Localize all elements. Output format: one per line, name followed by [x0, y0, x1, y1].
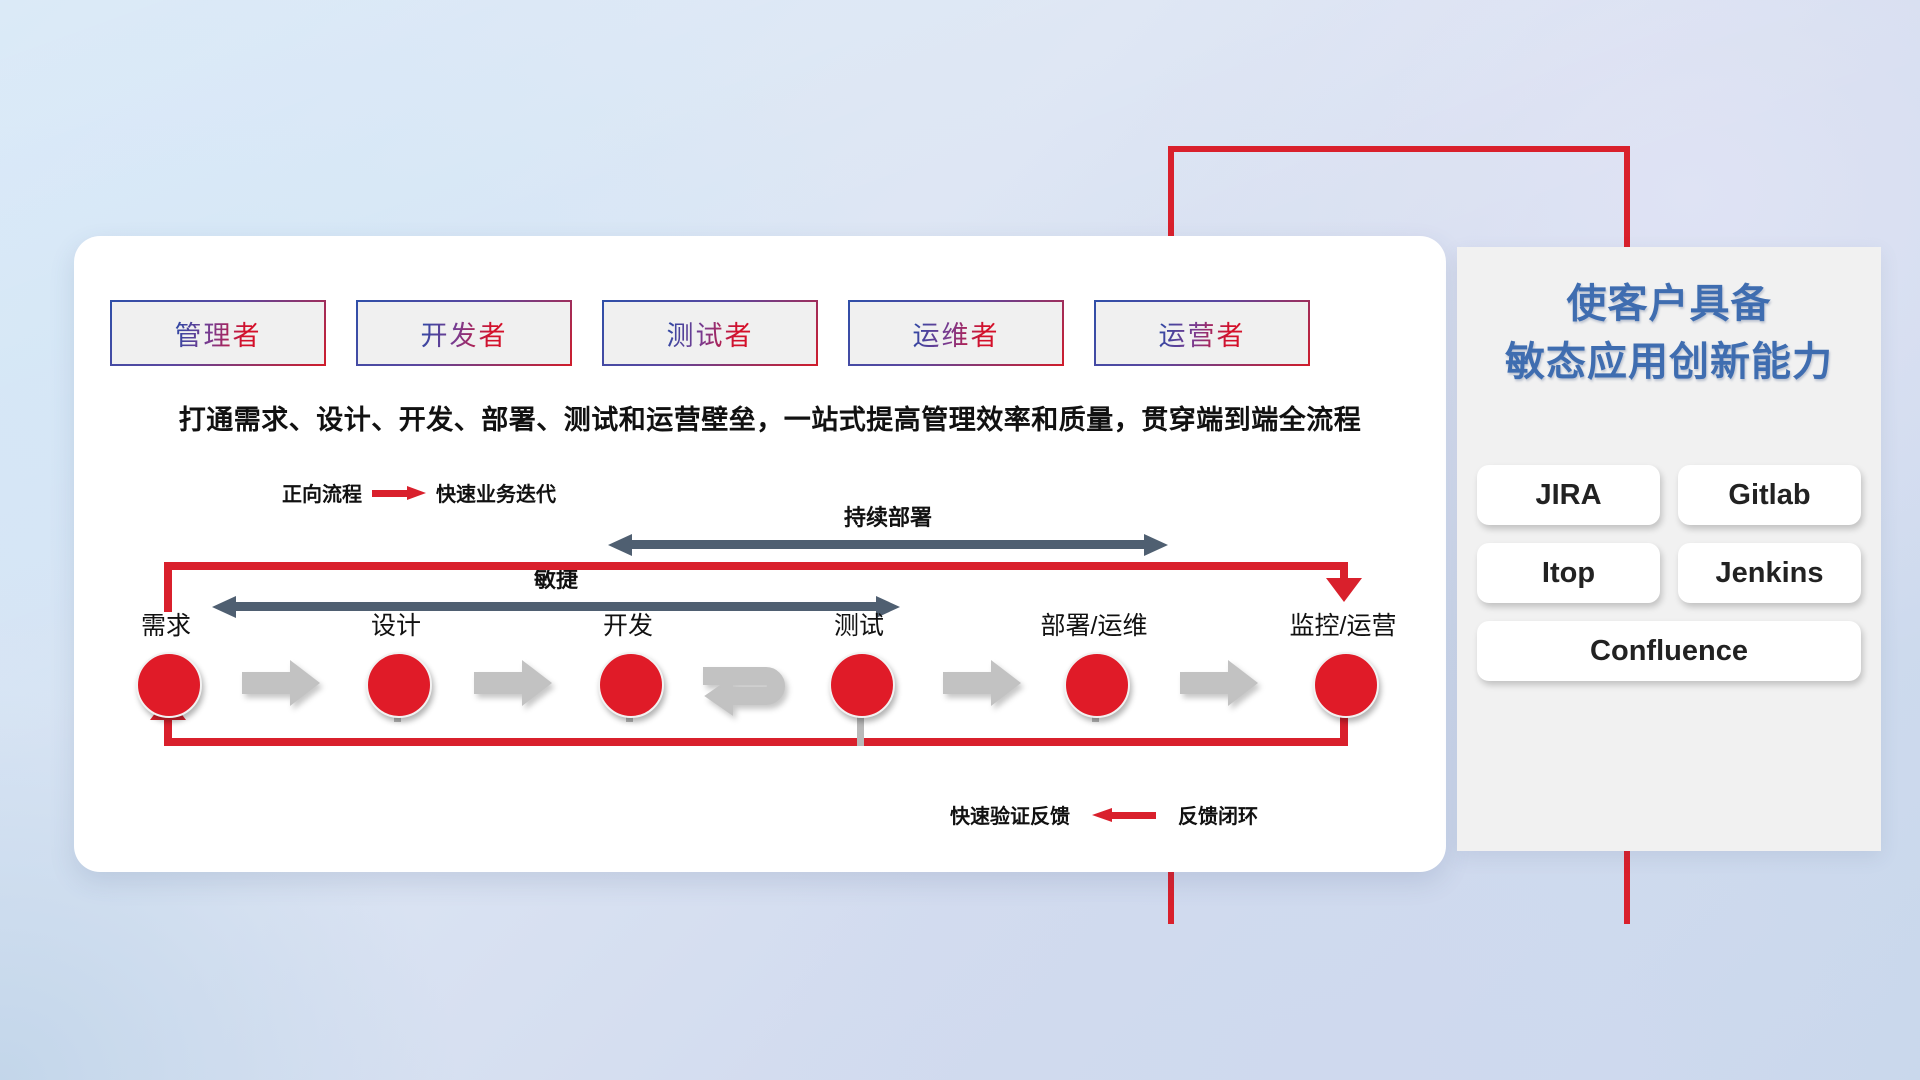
- role-box-row: 管理者 开发者 测试者 运维者 运营者: [110, 300, 1310, 366]
- stage-dot-icon: [1064, 652, 1130, 718]
- tool-button-jenkins[interactable]: Jenkins: [1678, 543, 1861, 603]
- tool-list: JIRA Gitlab Itop Jenkins Confluence: [1477, 465, 1861, 681]
- stage-label: 需求: [66, 606, 266, 642]
- role-box-tester[interactable]: 测试者: [602, 300, 818, 366]
- stage-label: 监控/运营: [1243, 606, 1443, 642]
- role-box-operations[interactable]: 运营者: [1094, 300, 1310, 366]
- feedback-left-label: 快速验证反馈: [950, 800, 1070, 829]
- span-label: 持续部署: [608, 500, 1168, 532]
- flow-arrow-icon: [943, 660, 1021, 706]
- span-continuous-deployment: 持续部署: [608, 500, 1168, 562]
- cycle-arrow-down-icon: [1326, 578, 1362, 602]
- cycle-loop-top: [164, 562, 1348, 570]
- stage-label: 设计: [296, 606, 496, 642]
- tool-button-itop[interactable]: Itop: [1477, 543, 1660, 603]
- role-label: 测试者: [667, 314, 754, 353]
- arrow-left-red-icon: [1092, 808, 1156, 822]
- rework-loop-arrow-icon: [700, 652, 816, 728]
- role-label: 开发者: [421, 314, 508, 353]
- stage-label: 开发: [528, 606, 728, 642]
- feedback-right-label: 反馈闭环: [1178, 800, 1258, 829]
- role-box-developer[interactable]: 开发者: [356, 300, 572, 366]
- flow-arrow-icon: [242, 660, 320, 706]
- role-label: 管理者: [175, 314, 262, 353]
- panel-title-line2: 敏态应用创新能力: [1457, 333, 1881, 391]
- role-label: 运营者: [1159, 314, 1246, 353]
- stage-label: 部署/运维: [994, 606, 1194, 642]
- flow-arrow-icon: [474, 660, 552, 706]
- cycle-loop-left-bottom-vertical: [164, 720, 172, 746]
- flow-arrow-icon: [1180, 660, 1258, 706]
- stage-dot-icon: [829, 652, 895, 718]
- stage-label: 测试: [759, 606, 959, 642]
- forward-flow-legend: 正向流程 快速业务迭代: [282, 478, 556, 507]
- forward-flow-right-label: 快速业务迭代: [436, 478, 556, 507]
- feedback-loop-legend: 快速验证反馈 反馈闭环: [950, 800, 1258, 829]
- stage-dot-icon: [1313, 652, 1379, 718]
- stage-dot-icon: [366, 652, 432, 718]
- arrow-right-red-icon: [372, 486, 426, 500]
- stage-dot-icon: [598, 652, 664, 718]
- tool-button-confluence[interactable]: Confluence: [1477, 621, 1861, 681]
- tool-button-gitlab[interactable]: Gitlab: [1678, 465, 1861, 525]
- description-text: 打通需求、设计、开发、部署、测试和运营壁垒，一站式提高管理效率和质量，贯穿端到端…: [110, 398, 1430, 437]
- cycle-loop-left-vertical: [164, 562, 172, 612]
- stage-dot-icon: [136, 652, 202, 718]
- tool-button-jira[interactable]: JIRA: [1477, 465, 1660, 525]
- role-label: 运维者: [913, 314, 1000, 353]
- role-box-ops[interactable]: 运维者: [848, 300, 1064, 366]
- role-box-manager[interactable]: 管理者: [110, 300, 326, 366]
- forward-flow-left-label: 正向流程: [282, 478, 362, 507]
- panel-title: 使客户具备 敏态应用创新能力: [1457, 275, 1881, 391]
- double-arrow-icon: [608, 534, 1168, 556]
- cycle-loop-bottom: [164, 738, 1348, 746]
- value-panel: 使客户具备 敏态应用创新能力 JIRA Gitlab Itop Jenkins …: [1457, 247, 1881, 851]
- panel-title-line1: 使客户具备: [1457, 275, 1881, 333]
